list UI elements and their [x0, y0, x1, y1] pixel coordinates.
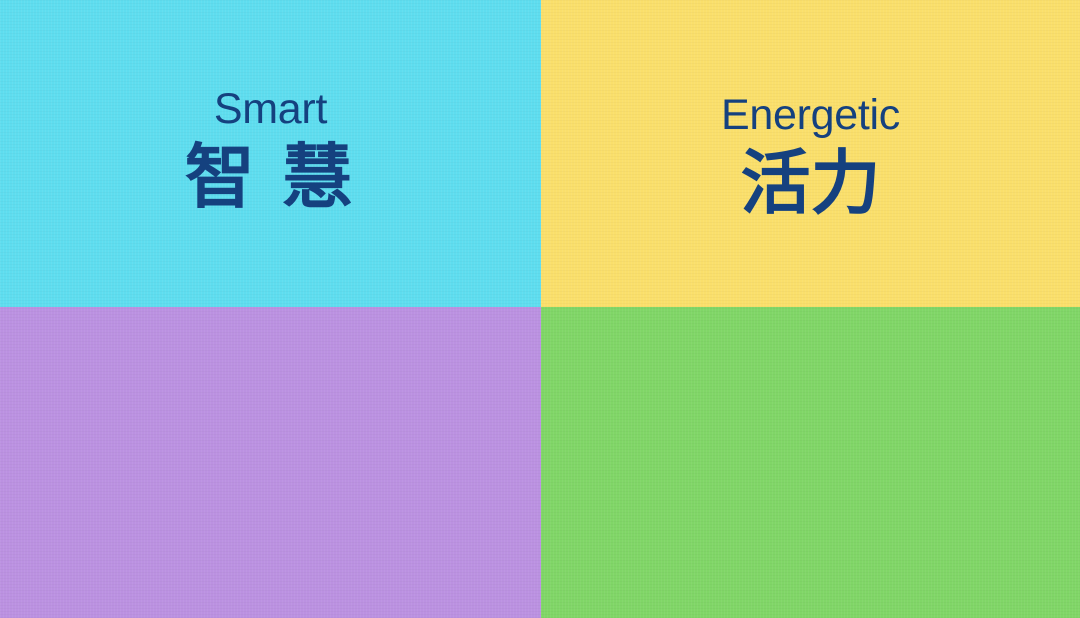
quadrant-smart-label-en: Smart — [0, 88, 541, 132]
quadrant-innovative[interactable]: Innovative 創新 — [0, 307, 541, 618]
quadrant-smart-text: Smart 智 慧 — [0, 88, 541, 216]
quadrant-smart[interactable]: Smart 智 慧 — [0, 0, 541, 307]
brand-values-canvas: Smart 智 慧 Energetic 活力 Innovative 創新 Sus… — [0, 0, 1080, 618]
quadrant-energetic-text: Energetic 活力 — [541, 94, 1080, 222]
quadrant-energetic[interactable]: Energetic 活力 — [541, 0, 1080, 307]
quadrant-grid: Smart 智 慧 Energetic 活力 Innovative 創新 Sus… — [0, 0, 1080, 618]
quadrant-energetic-label-zh: 活力 — [541, 144, 1080, 222]
quadrant-sustainable[interactable]: Sustainable 永續 — [541, 307, 1080, 618]
quadrant-smart-label-zh: 智 慧 — [0, 138, 541, 216]
quadrant-energetic-label-en: Energetic — [541, 94, 1080, 138]
